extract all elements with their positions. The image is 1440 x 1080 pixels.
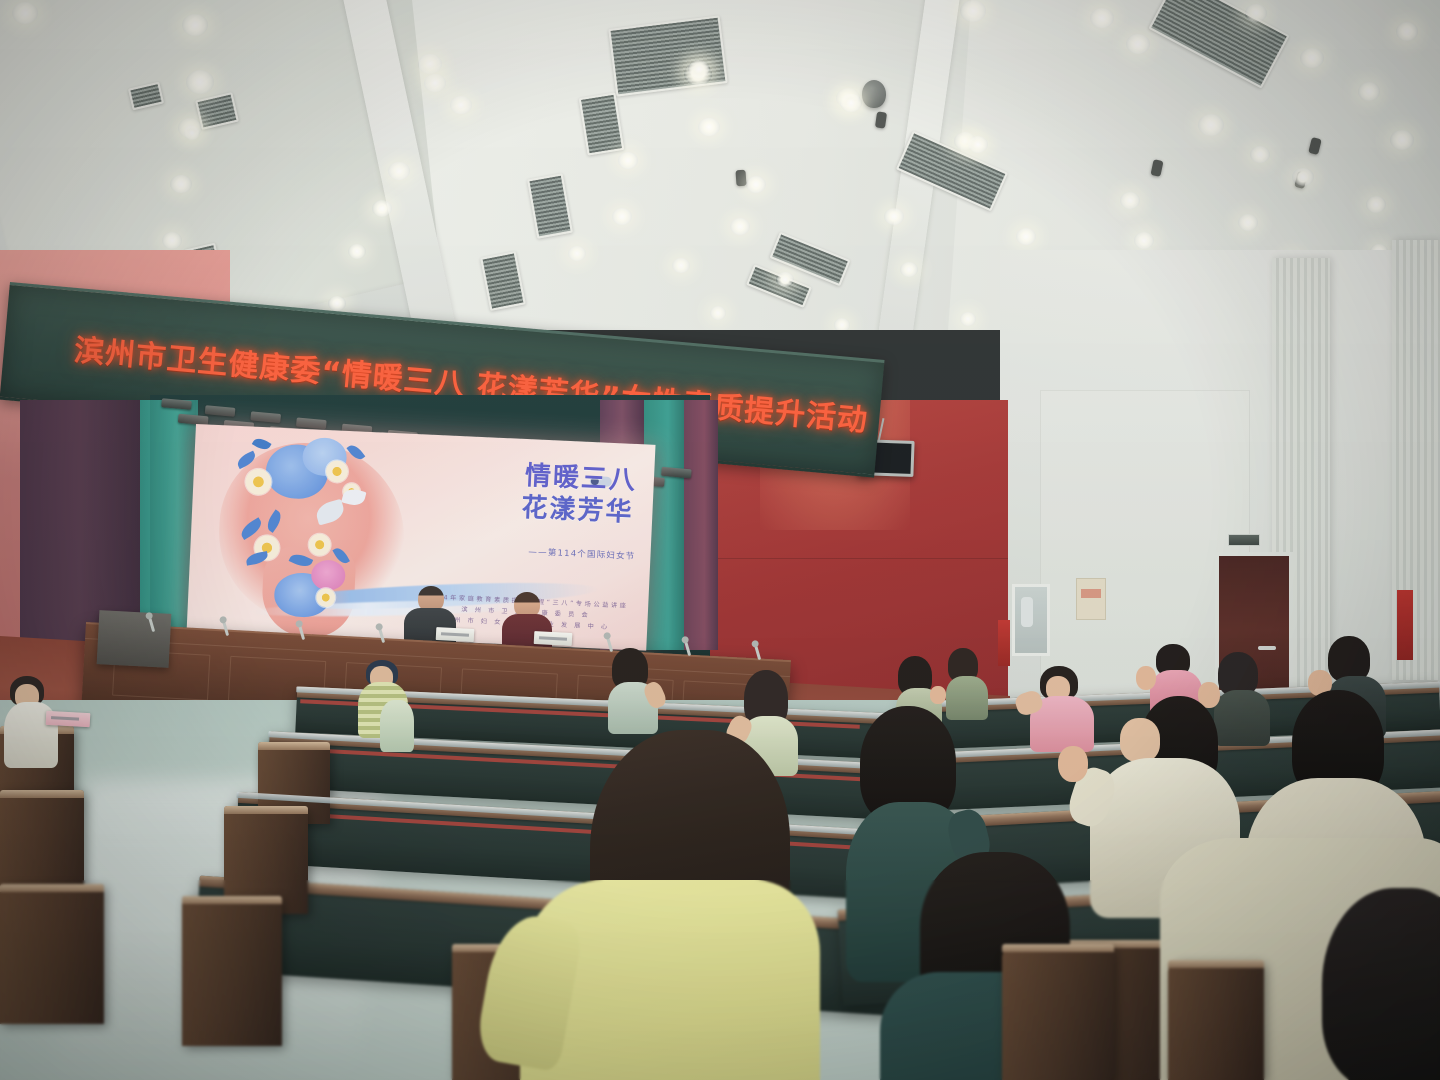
ceiling-downlight bbox=[884, 208, 904, 225]
exit-sign-icon bbox=[1228, 534, 1260, 546]
ceiling-downlight bbox=[672, 258, 690, 273]
wall-notice bbox=[1076, 578, 1106, 620]
ceiling-downlight bbox=[688, 60, 710, 78]
person-body bbox=[946, 676, 988, 720]
ceiling-downlight bbox=[568, 246, 586, 261]
stage-light-icon bbox=[161, 398, 192, 410]
person-jacket bbox=[380, 700, 414, 752]
ceiling-downlight bbox=[960, 0, 986, 22]
ceiling-downlight bbox=[834, 318, 850, 330]
ceiling-downlight bbox=[424, 74, 446, 92]
bench-end-cap bbox=[182, 896, 282, 1046]
red-wall-strip bbox=[1397, 590, 1413, 660]
ceiling-downlight bbox=[184, 126, 200, 140]
ceiling-downlight bbox=[388, 162, 410, 180]
bench-end-cap bbox=[0, 790, 84, 896]
ceiling-downlight bbox=[968, 136, 988, 153]
stage-light-icon bbox=[661, 467, 692, 479]
ceiling-downlight bbox=[1366, 196, 1386, 213]
person-hand bbox=[930, 686, 946, 704]
auditorium-photo: 滨州市卫生健康委“情暖三八 花漾芳华”女性素质提升活动 bbox=[0, 0, 1440, 1080]
person-hand bbox=[1136, 666, 1156, 690]
ceiling-downlight bbox=[1090, 8, 1114, 28]
seat-nameplate bbox=[46, 711, 91, 727]
bench-end-cap bbox=[0, 884, 104, 1024]
slide-title-line1: 情暖三八 bbox=[524, 461, 637, 496]
ceiling-downlight bbox=[1016, 228, 1036, 245]
ceiling-camera bbox=[735, 170, 746, 187]
red-wall-strip bbox=[998, 620, 1010, 666]
ceiling-downlight bbox=[170, 175, 192, 193]
ceiling-downlight bbox=[328, 296, 346, 311]
ceiling-downlight bbox=[746, 176, 766, 193]
ceiling-downlight bbox=[840, 94, 862, 112]
ceiling-downlight bbox=[1292, 168, 1314, 186]
person-hand bbox=[1058, 746, 1088, 782]
ceiling-downlight bbox=[162, 232, 182, 249]
ceiling-speaker bbox=[862, 80, 886, 108]
stage-light-icon bbox=[296, 417, 327, 429]
ceiling-downlight bbox=[418, 54, 442, 74]
ceiling-downlight bbox=[1390, 130, 1414, 150]
stage-light-icon bbox=[250, 411, 281, 423]
ceiling-downlight bbox=[1358, 82, 1380, 101]
ceiling-downlight bbox=[612, 208, 632, 225]
ceiling-downlight bbox=[182, 14, 208, 36]
ceiling-downlight bbox=[960, 312, 976, 326]
person-head bbox=[1120, 718, 1160, 762]
ceiling-downlight bbox=[710, 306, 726, 320]
ceiling-downlight bbox=[12, 2, 38, 24]
ceiling-downlight bbox=[1126, 34, 1150, 54]
ceiling-downlight bbox=[900, 262, 918, 277]
ceiling-downlight bbox=[776, 272, 794, 287]
ceiling-downlight bbox=[1198, 114, 1224, 136]
slide-title: 情暖三八 花漾芳华 bbox=[420, 456, 638, 529]
ceiling-downlight bbox=[1134, 232, 1154, 249]
ceiling-downlight bbox=[348, 244, 366, 259]
ceiling-downlight bbox=[618, 152, 638, 169]
bench-armrest bbox=[1002, 944, 1114, 1080]
side-podium bbox=[97, 610, 172, 668]
ceiling-downlight bbox=[1396, 22, 1418, 41]
ceiling-downlight bbox=[1238, 214, 1258, 231]
fire-equipment-cabinet bbox=[1012, 584, 1050, 656]
person-body bbox=[1214, 690, 1270, 746]
ceiling-downlight bbox=[372, 200, 392, 217]
stage-curtain-purple bbox=[684, 400, 718, 650]
stage-light-icon bbox=[205, 405, 236, 417]
ceiling-downlight bbox=[698, 118, 720, 136]
ceiling-downlight bbox=[1245, 4, 1267, 22]
air-vent bbox=[608, 15, 727, 96]
speaker-nameplate bbox=[534, 631, 573, 646]
ceiling-downlight bbox=[1300, 48, 1324, 68]
door-handle-icon[interactable] bbox=[1258, 646, 1276, 650]
slide-subtitle: ——第114个国际妇女节 bbox=[440, 541, 635, 562]
bench-armrest bbox=[1168, 960, 1264, 1080]
speaker-nameplate bbox=[436, 627, 475, 642]
ceiling-downlight bbox=[730, 218, 750, 235]
ceiling-downlight bbox=[1250, 146, 1270, 163]
ceiling-downlight bbox=[450, 96, 472, 114]
ceiling-downlight bbox=[1120, 192, 1140, 209]
ceiling-downlight bbox=[186, 70, 214, 94]
